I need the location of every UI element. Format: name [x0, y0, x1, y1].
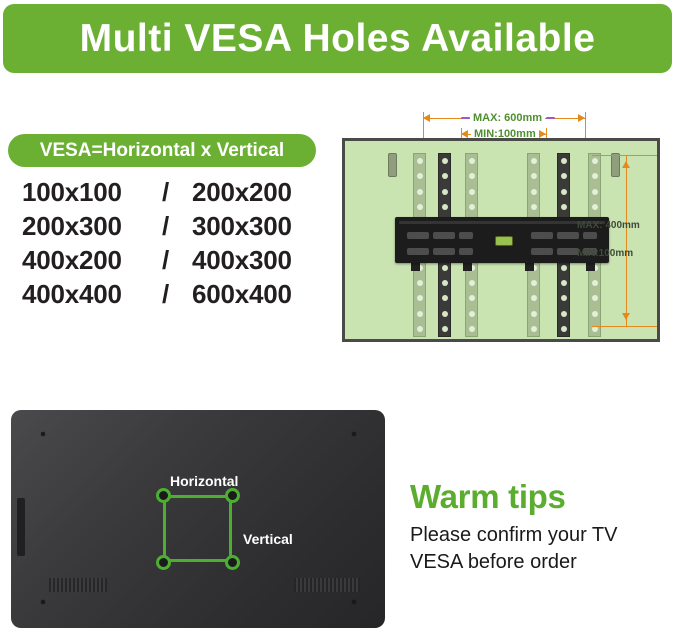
- rail-hole: [469, 295, 475, 301]
- crossbar-slot: [407, 248, 429, 255]
- vesa-size-separator: /: [162, 211, 192, 242]
- dimension-label-max-vertical: MAX: 400mm: [577, 220, 640, 232]
- rail-hole: [592, 158, 598, 164]
- vesa-pattern-overlay: [163, 495, 232, 562]
- crossbar-slot: [407, 232, 429, 239]
- rail-hole: [442, 295, 448, 301]
- rail-hole: [531, 326, 537, 332]
- vesa-size-right: 200x200: [192, 177, 292, 208]
- rail-hole: [469, 280, 475, 286]
- vesa-definition-badge: VESA=Horizontal x Vertical: [8, 134, 316, 167]
- vesa-size-list: 100x100 / 200x200 200x300 / 300x300 400x…: [22, 177, 322, 313]
- rail-hole: [442, 173, 448, 179]
- crossbar-slot: [459, 248, 473, 255]
- rail-hole: [442, 189, 448, 195]
- rail-hole: [417, 158, 423, 164]
- crossbar-slot: [557, 232, 579, 239]
- crossbar-slot: [531, 232, 553, 239]
- rail-hole: [469, 326, 475, 332]
- dimension-arrow-right: [578, 114, 585, 122]
- warm-tips-line-1: Please confirm your TV: [410, 522, 675, 549]
- rail-hole: [469, 173, 475, 179]
- tv-screw: [41, 432, 45, 436]
- vesa-definition-label: VESA=Horizontal x Vertical: [40, 141, 284, 160]
- tv-vent: [49, 578, 107, 592]
- vesa-mounting-hole: [225, 488, 240, 503]
- vesa-size-row: 200x300 / 300x300: [22, 211, 322, 245]
- rail-hole: [561, 295, 567, 301]
- crossbar-slot: [531, 248, 553, 255]
- rail-hole: [442, 280, 448, 286]
- warm-tips-title: Warm tips: [410, 480, 675, 515]
- rail-hole: [561, 326, 567, 332]
- vesa-size-row: 400x200 / 400x300: [22, 245, 322, 279]
- crossbar-slot: [459, 232, 473, 239]
- rail-hole: [442, 158, 448, 164]
- rail-hole: [531, 189, 537, 195]
- rail-hole: [417, 204, 423, 210]
- rail-hole: [592, 189, 598, 195]
- rail-hole: [561, 173, 567, 179]
- dimension-label-min-vertical: MIN:100mm: [577, 248, 633, 260]
- tv-back-panel-illustration: Horizontal Vertical: [11, 410, 385, 628]
- crossbar-slot: [433, 232, 455, 239]
- rail-hole: [531, 295, 537, 301]
- tv-vent: [294, 578, 360, 592]
- rail-hole: [531, 311, 537, 317]
- rail-hole: [442, 326, 448, 332]
- rail-hole: [592, 280, 598, 286]
- rail-hole: [469, 311, 475, 317]
- bracket-foot: [586, 263, 595, 271]
- rail-hole: [417, 173, 423, 179]
- rail-hole: [442, 265, 448, 271]
- vesa-size-right: 300x300: [192, 211, 292, 242]
- crossbar-ear: [388, 153, 397, 177]
- page-title: Multi VESA Holes Available: [80, 19, 596, 58]
- vesa-size-separator: /: [162, 245, 192, 276]
- header-banner: Multi VESA Holes Available: [3, 4, 672, 73]
- rail-hole: [561, 158, 567, 164]
- rail-hole: [469, 158, 475, 164]
- rail-hole: [592, 173, 598, 179]
- rail-hole: [442, 311, 448, 317]
- vesa-size-left: 100x100: [22, 177, 162, 208]
- rail-hole: [417, 311, 423, 317]
- vesa-size-right: 600x400: [192, 279, 292, 310]
- vesa-size-left: 400x400: [22, 279, 162, 310]
- rail-hole: [531, 280, 537, 286]
- rail-hole: [531, 158, 537, 164]
- vesa-size-right: 400x300: [192, 245, 292, 276]
- vesa-size-left: 400x200: [22, 245, 162, 276]
- dimension-arrow-right: [539, 130, 546, 138]
- rail-hole: [561, 265, 567, 271]
- dimension-arrow-up: [622, 161, 630, 168]
- rail-hole: [442, 204, 448, 210]
- rail-hole: [469, 189, 475, 195]
- rail-hole: [417, 295, 423, 301]
- rail-hole: [561, 189, 567, 195]
- dimension-line-vertical: [626, 155, 627, 326]
- rail-hole: [561, 280, 567, 286]
- crossbar-ear: [611, 153, 620, 177]
- crossbar-slot: [433, 248, 455, 255]
- dimension-arrow-left: [461, 130, 468, 138]
- dimension-arrow-left: [423, 114, 430, 122]
- dimension-label-max-horizontal: MAX: 600mm: [470, 112, 545, 124]
- rail-hole: [592, 311, 598, 317]
- warm-tips-body: Please confirm your TV VESA before order: [410, 522, 675, 576]
- vesa-size-left: 200x300: [22, 211, 162, 242]
- rail-hole: [531, 173, 537, 179]
- vesa-mounting-hole: [225, 555, 240, 570]
- tv-screw: [352, 600, 356, 604]
- dimension-dash: [546, 117, 555, 119]
- rail-hole: [592, 204, 598, 210]
- rail-hole: [561, 204, 567, 210]
- rail-hole: [417, 189, 423, 195]
- rail-hole: [417, 280, 423, 286]
- tv-port-strip: [17, 498, 25, 556]
- dimension-dash: [461, 117, 470, 119]
- vesa-size-separator: /: [162, 177, 192, 208]
- crossbar-slot: [583, 232, 597, 239]
- label-vertical: Vertical: [243, 532, 293, 546]
- vesa-mounting-hole: [156, 555, 171, 570]
- bracket-foot: [525, 263, 534, 271]
- rail-hole: [469, 204, 475, 210]
- dimension-line-vertical-bottom: [592, 326, 660, 327]
- bubble-level-indicator: [495, 236, 513, 246]
- bracket-diagram-panel: MAX: 400mm MIN:100mm: [342, 138, 660, 342]
- bracket-foot: [411, 263, 420, 271]
- label-horizontal: Horizontal: [170, 474, 238, 488]
- bracket-foot: [463, 263, 472, 271]
- rail-hole: [531, 204, 537, 210]
- warm-tips-section: Warm tips Please confirm your TV VESA be…: [410, 480, 675, 576]
- vesa-size-row: 100x100 / 200x200: [22, 177, 322, 211]
- rail-hole: [561, 311, 567, 317]
- vesa-size-separator: /: [162, 279, 192, 310]
- tv-screw: [41, 600, 45, 604]
- warm-tips-line-2: VESA before order: [410, 549, 675, 576]
- vesa-size-row: 400x400 / 600x400: [22, 279, 322, 313]
- crossbar-slot: [557, 248, 579, 255]
- tv-screw: [352, 432, 356, 436]
- rail-hole: [417, 326, 423, 332]
- rail-hole: [592, 295, 598, 301]
- dimension-arrow-down: [622, 313, 630, 320]
- vesa-mounting-hole: [156, 488, 171, 503]
